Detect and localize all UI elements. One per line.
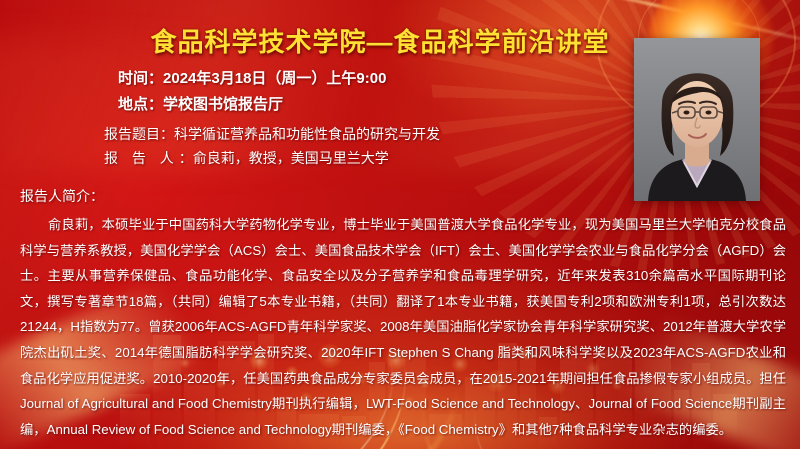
event-location-label: 地点 bbox=[118, 96, 148, 113]
event-time-label: 时间 bbox=[118, 70, 148, 87]
talk-title-value: 科学循证营养品和功能性食品的研究与开发 bbox=[174, 126, 440, 142]
event-location-row: 地点：学校图书馆报告厅 bbox=[118, 92, 386, 118]
bio-body-text: 俞良莉，本硕毕业于中国药科大学药物化学专业，博士毕业于美国普渡大学食品化学专业，… bbox=[20, 212, 786, 442]
talk-speaker-value: 俞良莉，教授，美国马里兰大学 bbox=[193, 150, 389, 166]
colon: ： bbox=[148, 96, 163, 113]
event-time-value: 2024年3月18日（周一）上午9:00 bbox=[163, 70, 386, 87]
colon: ： bbox=[148, 70, 163, 87]
colon: ： bbox=[179, 150, 193, 166]
bio-heading: 报告人简介： bbox=[20, 186, 104, 206]
event-time-row: 时间：2024年3月18日（周一）上午9:00 bbox=[118, 66, 386, 92]
lecture-poster: 食品科学技术学院—食品科学前沿讲堂 时间：2024年3月18日（周一）上午9:0… bbox=[0, 0, 800, 449]
talk-speaker-row: 报 告 人：俞良莉，教授，美国马里兰大学 bbox=[104, 146, 440, 170]
talk-title-row: 报告题目：科学循证营养品和功能性食品的研究与开发 bbox=[104, 122, 440, 146]
event-meta: 时间：2024年3月18日（周一）上午9:00 地点：学校图书馆报告厅 bbox=[118, 66, 386, 118]
talk-details: 报告题目：科学循证营养品和功能性食品的研究与开发 报 告 人：俞良莉，教授，美国… bbox=[104, 122, 440, 170]
colon: ： bbox=[160, 126, 174, 142]
event-location-value: 学校图书馆报告厅 bbox=[163, 96, 283, 113]
speaker-photo bbox=[634, 38, 760, 201]
talk-title-label: 报告题目 bbox=[104, 126, 160, 142]
talk-speaker-label: 报 告 人 bbox=[104, 150, 179, 166]
